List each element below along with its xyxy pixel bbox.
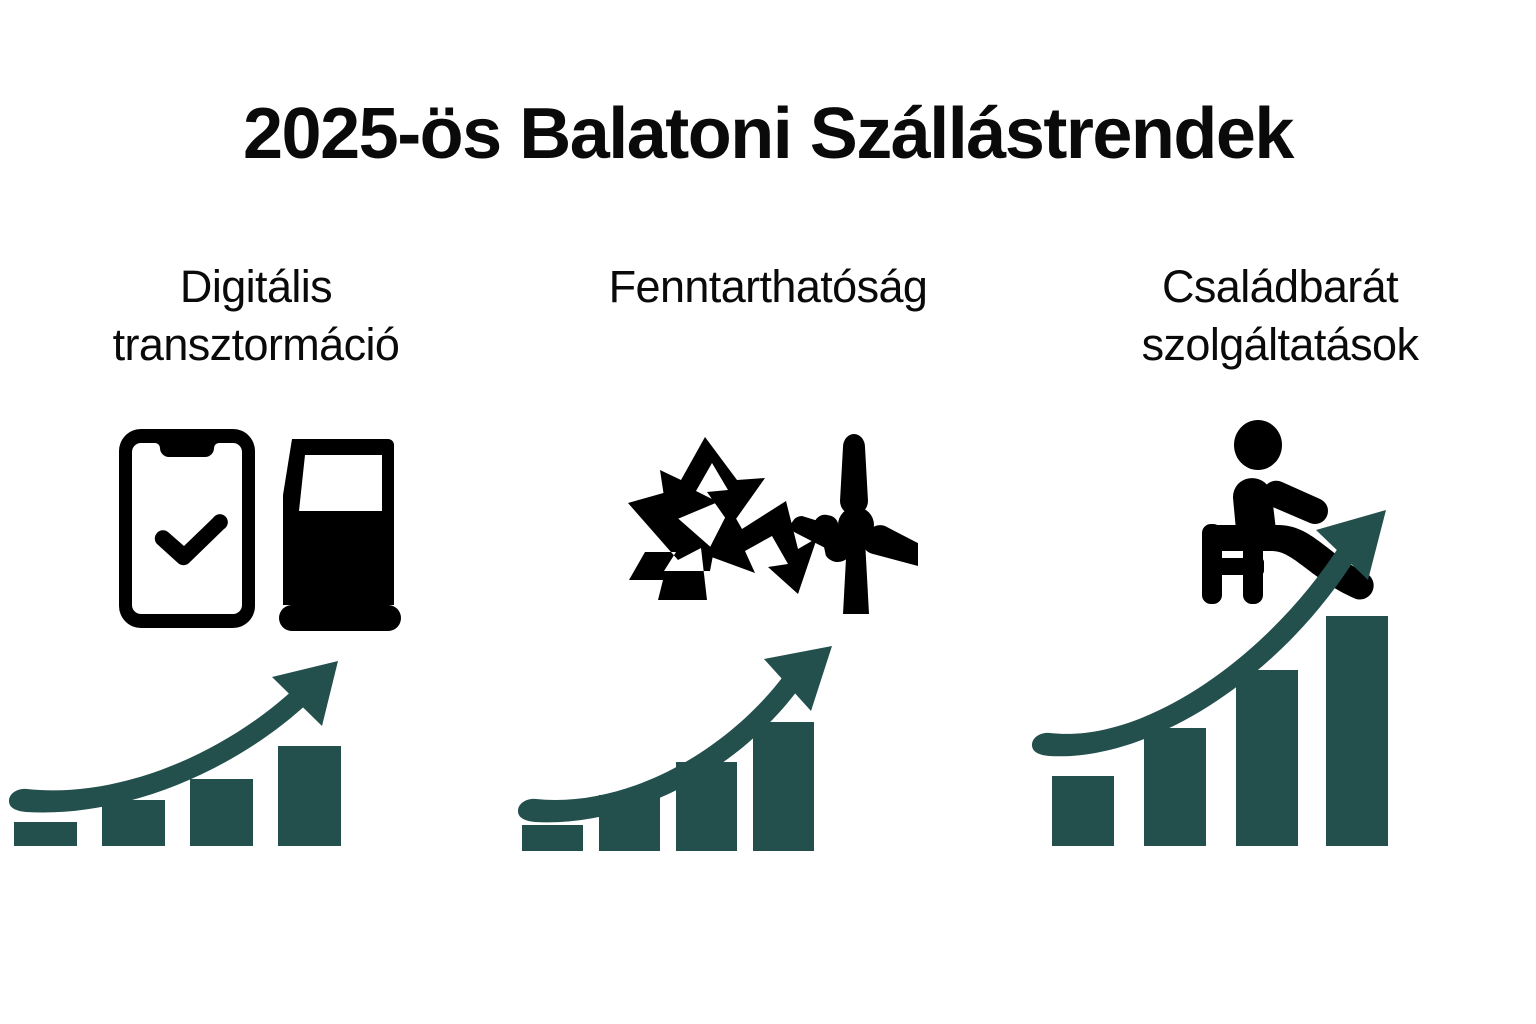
trend-column-family: Családbarát szolgáltatások — [1024, 258, 1536, 898]
wind-turbine-icon — [791, 434, 918, 614]
bar-1 — [1052, 776, 1114, 846]
chart-family — [1024, 502, 1536, 857]
recycling-icon — [628, 437, 817, 600]
trend-column-sustainability: Fenntarthatóság — [512, 258, 1024, 898]
bar-chart-sustainability-svg — [512, 626, 852, 856]
bar-1 — [522, 825, 583, 851]
bar-2 — [102, 800, 165, 846]
bar-2 — [1144, 728, 1206, 846]
bar-3 — [1236, 670, 1298, 846]
column-heading-line-1: Fenntarthatóság — [512, 258, 1024, 316]
trend-columns: Digitális transztormáció — [0, 258, 1536, 898]
chart-sustainability — [512, 626, 1024, 856]
column-heading-line-1: Családbarát — [1024, 258, 1536, 316]
sustainability-icons-svg — [618, 428, 918, 628]
icon-group-sustainability — [512, 418, 1024, 638]
trend-column-digital: Digitális transztormáció — [0, 258, 512, 898]
bar-3 — [190, 779, 253, 846]
column-heading-line-2: transztormáció — [0, 316, 512, 374]
digital-icons-svg — [111, 421, 401, 636]
bar-4 — [753, 722, 814, 851]
column-heading-line-2: szolgáltatások — [1024, 316, 1536, 374]
column-heading-family: Családbarát szolgáltatások — [1024, 258, 1536, 373]
self-service-kiosk-icon — [279, 439, 401, 631]
column-heading-line-1: Digitális — [0, 258, 512, 316]
bar-1 — [14, 822, 77, 846]
smartphone-check-icon — [119, 429, 255, 628]
bar-4 — [278, 746, 341, 846]
infographic-canvas: 2025-ös Balatoni Szállástrendek Digitáli… — [0, 0, 1536, 1024]
column-heading-digital: Digitális transztormáció — [0, 258, 512, 373]
bar-chart-family-svg — [1024, 502, 1394, 852]
icon-group-digital — [0, 418, 512, 638]
column-heading-sustainability: Fenntarthatóság — [512, 258, 1024, 316]
chart-digital — [0, 636, 512, 856]
bar-4 — [1326, 616, 1388, 846]
page-title: 2025-ös Balatoni Szállástrendek — [0, 96, 1536, 172]
bar-chart-digital-svg — [0, 636, 360, 851]
